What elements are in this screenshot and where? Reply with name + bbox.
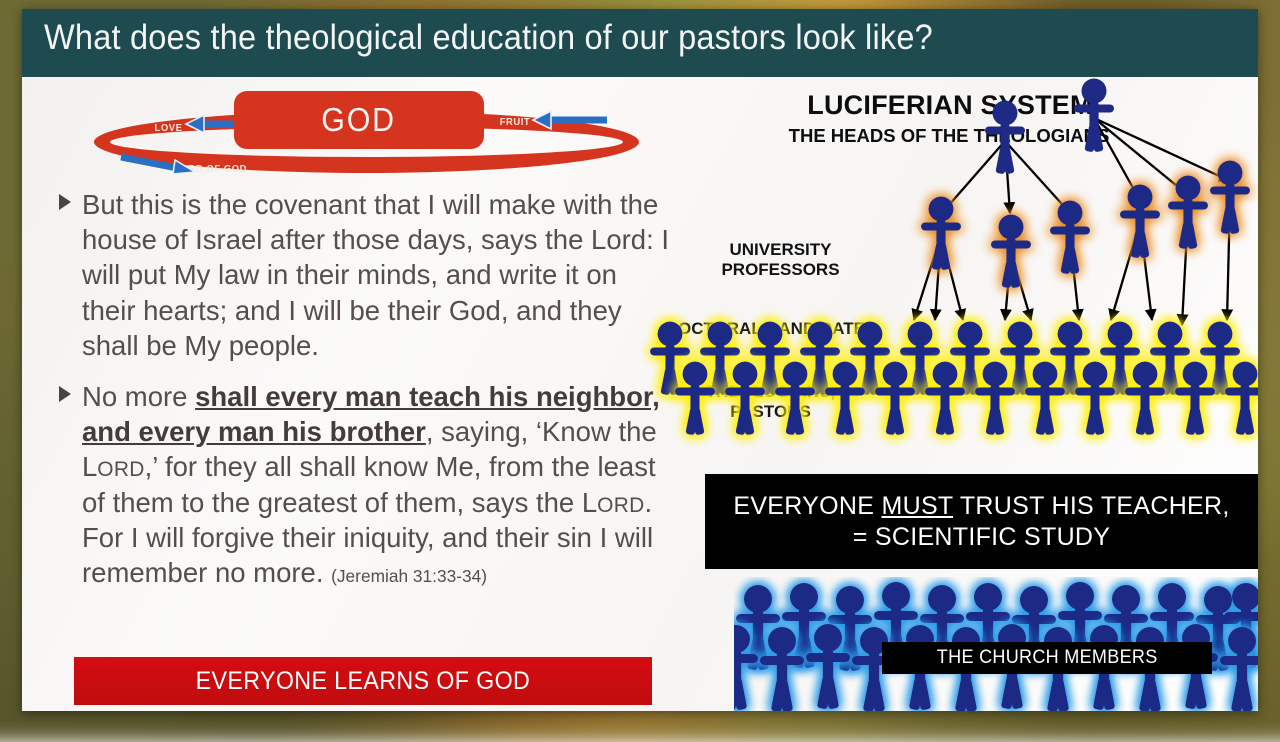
bullet-item: No more shall every man teach his neighb… xyxy=(56,379,674,590)
slide-body: LOVE FRUIT WORD OF GOD xyxy=(22,77,1258,711)
slide-title: What does the theological education of o… xyxy=(44,18,933,58)
hierarchy-diagram xyxy=(642,77,1258,477)
trust-banner-line1: EVERYONE MUST TRUST HIS TEACHER, xyxy=(733,491,1229,522)
arrow-word-of-god-icon xyxy=(117,152,199,176)
trust-teacher-banner: EVERYONE MUST TRUST HIS TEACHER, = SCIEN… xyxy=(705,474,1258,569)
bullet-smallcap-lord: LORD xyxy=(82,451,145,482)
luciferian-system-panel: LUCIFERIAN SYSTEM THE HEADS OF THE THEOL… xyxy=(642,77,1258,711)
bullet-text-mid2: ,’ for they all shall know Me, from the … xyxy=(82,451,656,517)
god-label: GOD xyxy=(322,101,397,139)
church-members-crowd: THE CHURCH MEMBERS xyxy=(734,577,1258,711)
trust-line1-before: EVERYONE xyxy=(733,492,881,520)
bullet-smallcap-lord-2: LORD xyxy=(582,487,645,518)
church-members-banner-text: THE CHURCH MEMBERS xyxy=(937,647,1158,669)
bullet-item: But this is the covenant that I will mak… xyxy=(56,187,674,363)
bullet-marker-icon xyxy=(59,194,71,210)
trust-banner-line2: = SCIENTIFIC STUDY xyxy=(853,522,1111,553)
tier-heads-figures xyxy=(985,79,1114,175)
everyone-learns-banner: EVERYONE LEARNS OF GOD xyxy=(74,657,652,705)
bullet-marker-icon xyxy=(59,386,71,402)
bullet-text-prefix: No more xyxy=(82,381,195,412)
trust-line1-underlined: MUST xyxy=(881,492,953,520)
everyone-learns-banner-text: EVERYONE LEARNS OF GOD xyxy=(196,667,531,696)
arrow-fruit-icon xyxy=(529,109,611,131)
bullet-text: But this is the covenant that I will mak… xyxy=(82,189,669,361)
trust-line1-after: TRUST HIS TEACHER, xyxy=(953,492,1230,520)
bullet-citation: (Jeremiah 31:33-34) xyxy=(331,566,487,586)
scripture-bullet-list: But this is the covenant that I will mak… xyxy=(56,187,674,606)
ring-label-fruit: FRUIT xyxy=(500,116,531,128)
church-members-banner: THE CHURCH MEMBERS xyxy=(882,642,1212,674)
slide: What does the theological education of o… xyxy=(22,9,1258,711)
bullet-text-mid: , saying, ‘Know the xyxy=(426,416,657,447)
slide-title-bar: What does the theological education of o… xyxy=(22,9,1258,77)
god-center-box: GOD xyxy=(234,91,484,149)
god-cycle-diagram: LOVE FRUIT WORD OF GOD xyxy=(64,91,644,183)
ring-label-love: LOVE xyxy=(155,122,183,134)
